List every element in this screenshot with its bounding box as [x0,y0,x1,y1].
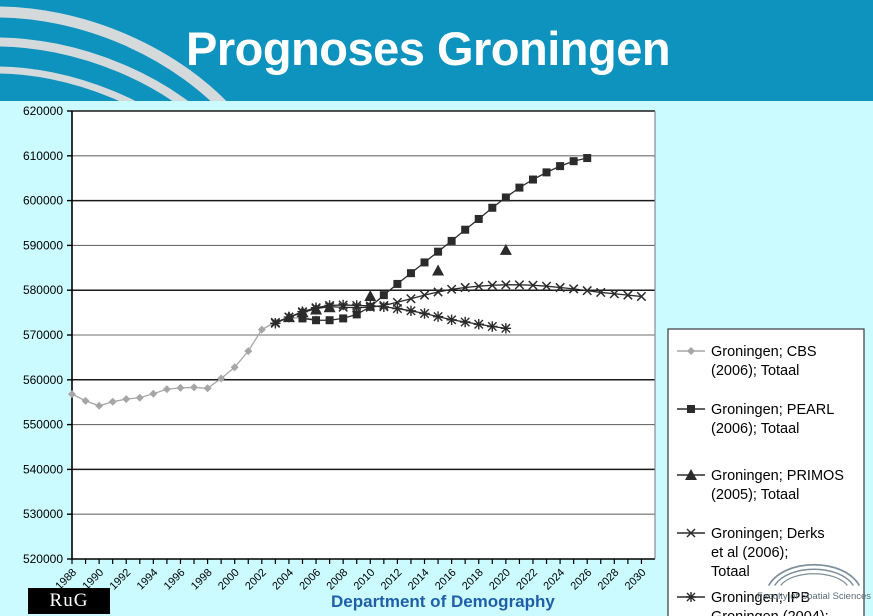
data-point [687,405,695,413]
data-point [475,215,483,223]
y-tick-label: 550000 [23,418,63,432]
y-tick-label: 570000 [23,328,63,342]
legend-label: (2006); Totaal [711,363,799,379]
faculty-logo: Faculty of Spatial Sciences [755,552,873,602]
y-tick-label: 590000 [23,238,63,252]
faculty-label: Faculty of Spatial Sciences [755,591,873,602]
data-point [324,300,334,310]
data-point [284,312,294,322]
y-tick-label: 560000 [23,373,63,387]
data-point [338,300,348,310]
y-tick-label: 540000 [23,462,63,476]
legend-label: Groningen; Derks [711,526,825,542]
data-point [488,204,496,212]
data-point [352,300,362,310]
data-point [419,308,429,318]
data-point [583,154,591,162]
data-point [570,157,578,165]
prognoses-chart: 5200005300005400005500005600005700005800… [0,101,873,616]
department-label: Department of Demography [331,592,555,612]
legend-label: (2006); Totaal [711,421,799,437]
data-point [448,237,456,245]
data-point [461,226,469,234]
data-point [379,302,389,312]
data-point [515,184,523,192]
legend-label: Groningen; PEARL [711,402,834,418]
data-point [433,311,443,321]
data-point [501,323,511,333]
data-point [686,592,696,602]
data-point [421,258,429,266]
data-point [365,301,375,311]
data-point [392,303,402,313]
data-point [434,248,442,256]
legend-label: Groningen (2004); [711,609,829,616]
title-banner: Prognoses Groningen [0,0,873,101]
data-point [487,321,497,331]
y-tick-label: 610000 [23,149,63,163]
y-tick-label: 600000 [23,194,63,208]
data-point [474,319,484,329]
data-point [380,291,388,299]
data-point [446,315,456,325]
data-point [311,302,321,312]
data-point [529,176,537,184]
legend-label: (2005); Totaal [711,487,799,503]
data-point [270,318,280,328]
faculty-arc-icon [755,552,873,586]
data-point [543,168,551,176]
data-point [406,306,416,316]
data-point [326,316,334,324]
data-point [297,307,307,317]
y-tick-label: 620000 [23,104,63,118]
data-point [407,269,415,277]
data-point [339,314,347,322]
y-tick-label: 580000 [23,283,63,297]
y-tick-label: 520000 [23,552,63,566]
data-point [460,317,470,327]
data-point [393,280,401,288]
data-point [502,193,510,201]
data-point [556,162,564,170]
legend-label: Totaal [711,564,750,580]
data-point [353,310,361,318]
data-point [312,316,320,324]
y-tick-label: 530000 [23,507,63,521]
legend-label: Groningen; PRIMOS [711,468,844,484]
legend-label: Groningen; CBS [711,344,817,360]
rug-logo: RuG [28,588,110,614]
page-title: Prognoses Groningen [186,21,670,76]
